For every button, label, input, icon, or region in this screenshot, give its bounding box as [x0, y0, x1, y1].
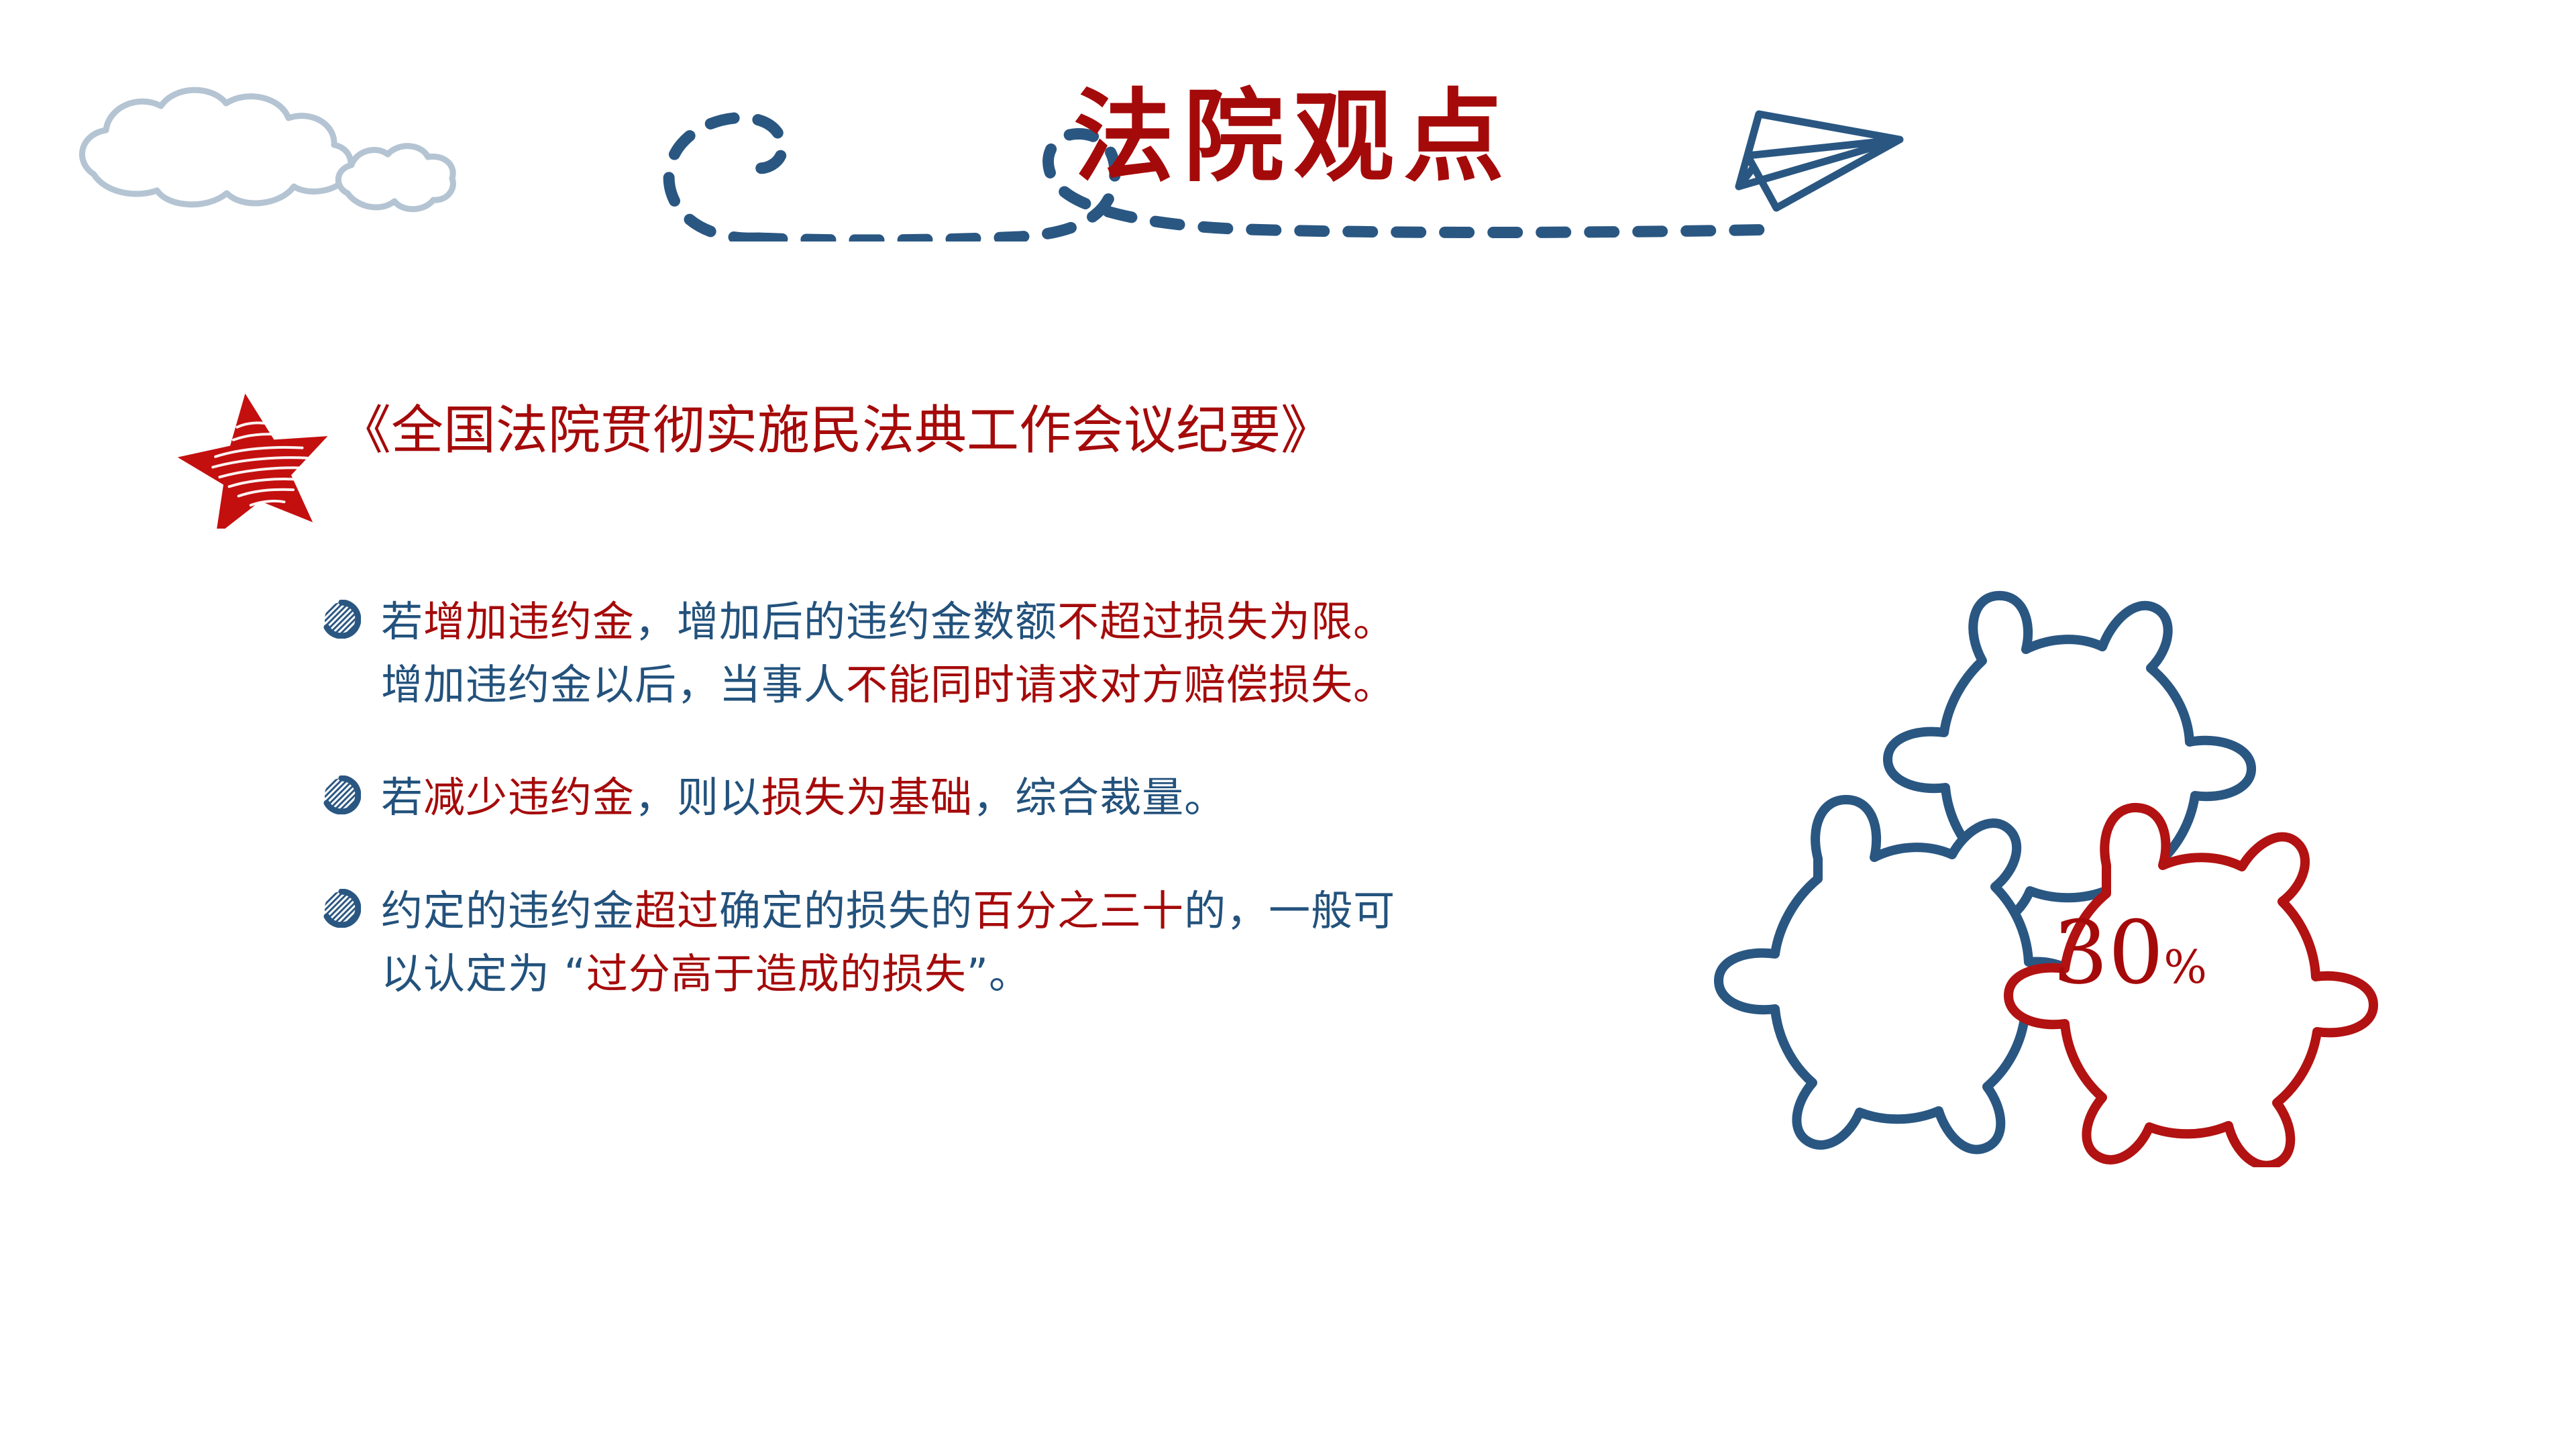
text-run: ”。 — [967, 949, 1031, 998]
text-run: 的，一般可 — [1184, 886, 1395, 935]
page-title: 法院观点 — [1073, 87, 1513, 188]
striped-circle-bullet-icon — [322, 775, 361, 814]
gear-decoration-group — [1677, 496, 2469, 1167]
striped-circle-bullet-icon — [322, 600, 361, 639]
text-run: ，综合裁量。 — [973, 773, 1226, 822]
text-run: 不超过损失为限。 — [1057, 597, 1395, 646]
gear-percent-symbol: % — [2163, 941, 2207, 994]
list-item: 若增加违约金，增加后的违约金数额不超过损失为限。增加违约金以后，当事人不能同时请… — [322, 590, 1731, 716]
text-run: 若 — [381, 597, 423, 646]
gear-percent-number: 30 — [2053, 902, 2163, 1004]
text-run: 减少违约金 — [423, 773, 635, 822]
text-line: 增加违约金以后，当事人不能同时请求对方赔偿损失。 — [381, 653, 1395, 716]
bullet-list: 若增加违约金，增加后的违约金数额不超过损失为限。增加违约金以后，当事人不能同时请… — [322, 590, 1731, 1055]
list-item: 若减少违约金，则以损失为基础，综合裁量。 — [322, 766, 1731, 829]
list-item-text: 若增加违约金，增加后的违约金数额不超过损失为限。增加违约金以后，当事人不能同时请… — [381, 590, 1395, 716]
paper-plane-decoration — [1717, 87, 1945, 215]
cloud-icon — [67, 80, 456, 228]
text-run: 增加违约金以后，当事人 — [381, 660, 846, 709]
gear-percent-badge: 30% — [2053, 909, 2207, 996]
text-run: 超过 — [635, 886, 719, 935]
striped-circle-bullet-icon — [322, 889, 361, 928]
text-run: 损失为基础 — [761, 773, 973, 822]
text-run: 增加违约金 — [423, 597, 635, 646]
star-scribble-icon — [169, 388, 337, 529]
text-run: ，增加后的违约金数额 — [635, 597, 1057, 646]
text-run: 以认定为 “ — [381, 949, 586, 998]
section-heading: 《全国法院贯彻实施民法典工作会议纪要》 — [339, 402, 1333, 460]
text-run: 约定的违约金 — [381, 886, 635, 935]
text-run: 百分之三十 — [973, 886, 1184, 935]
list-item-text: 约定的违约金超过确定的损失的百分之三十的，一般可以认定为 “过分高于造成的损失”… — [381, 879, 1395, 1006]
text-run: 若 — [381, 773, 423, 822]
cloud-decoration — [67, 80, 456, 228]
text-run: 不能同时请求对方赔偿损失。 — [846, 660, 1395, 709]
list-item: 约定的违约金超过确定的损失的百分之三十的，一般可以认定为 “过分高于造成的损失”… — [322, 879, 1731, 1006]
paper-plane-icon — [1717, 87, 1945, 215]
list-item-text: 若减少违约金，则以损失为基础，综合裁量。 — [381, 766, 1226, 829]
text-run: 过分高于造成的损失 — [586, 949, 967, 998]
text-run: 确定的损失的 — [719, 886, 973, 935]
text-run: ，则以 — [635, 773, 761, 822]
star-decoration — [169, 388, 337, 529]
text-line: 以认定为 “过分高于造成的损失”。 — [381, 943, 1395, 1006]
